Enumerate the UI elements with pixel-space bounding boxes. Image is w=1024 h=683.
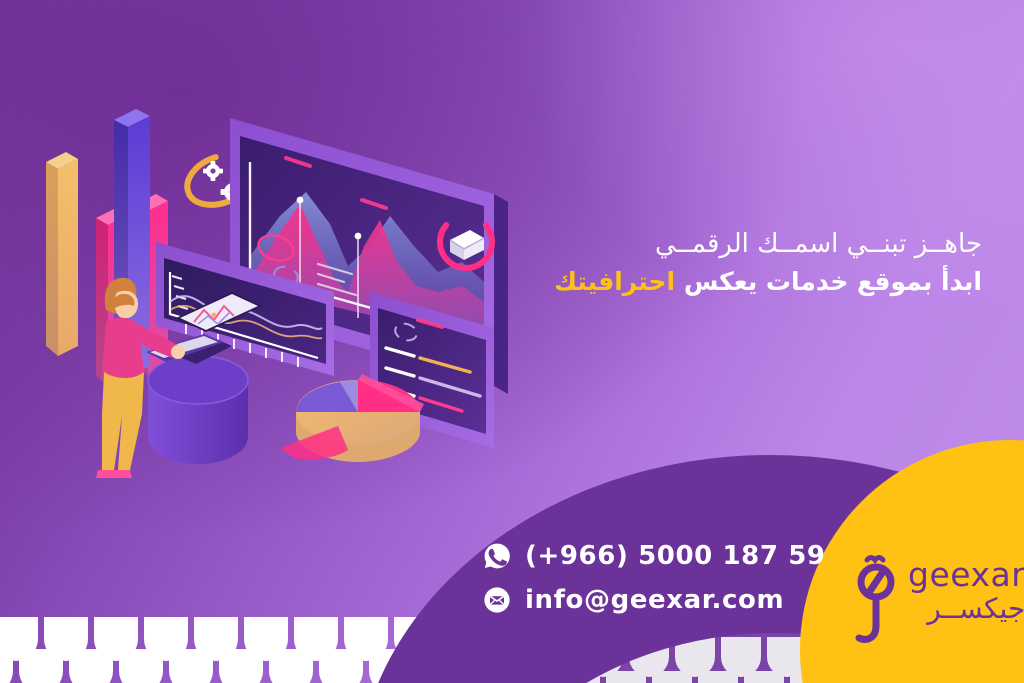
contact-info: (+966) 5000 187 59 info@geexar.com	[483, 534, 826, 622]
whatsapp-icon	[483, 542, 511, 570]
headline-line-2-text: ابدأ بموقع خدمات يعكس	[675, 267, 982, 296]
headline-line-2: ابدأ بموقع خدمات يعكس احترافيتك	[422, 264, 982, 300]
logo-latin-name: geexar	[908, 555, 1024, 594]
scallop-row	[0, 649, 430, 683]
illustration	[18, 96, 528, 516]
envelope-icon	[483, 586, 511, 614]
headline: جاهــز تبنــي اسمــك الرقمــي ابدأ بموقع…	[422, 226, 982, 300]
logo-arabic-name: جيكســر	[927, 592, 1024, 625]
contact-row-phone[interactable]: (+966) 5000 187 59	[483, 534, 826, 578]
headline-accent-word: احترافيتك	[554, 267, 675, 296]
email-address: info@geexar.com	[525, 585, 784, 615]
marketing-banner: جاهــز تبنــي اسمــك الرقمــي ابدأ بموقع…	[0, 0, 1024, 683]
logo[interactable]: geexar جيكســر	[846, 552, 1016, 652]
phone-number: (+966) 5000 187 59	[525, 541, 826, 571]
scallop-decoration-bottom-left	[0, 613, 430, 683]
bar-3d-orange	[46, 152, 78, 356]
desk-cylinder	[148, 356, 248, 464]
geexar-monogram-icon	[846, 552, 902, 648]
logo-texts: geexar جيكســر	[908, 558, 1024, 626]
contact-row-email[interactable]: info@geexar.com	[483, 578, 826, 622]
illustration-svg	[18, 96, 528, 516]
headline-line-1: جاهــز تبنــي اسمــك الرقمــي	[422, 226, 982, 262]
